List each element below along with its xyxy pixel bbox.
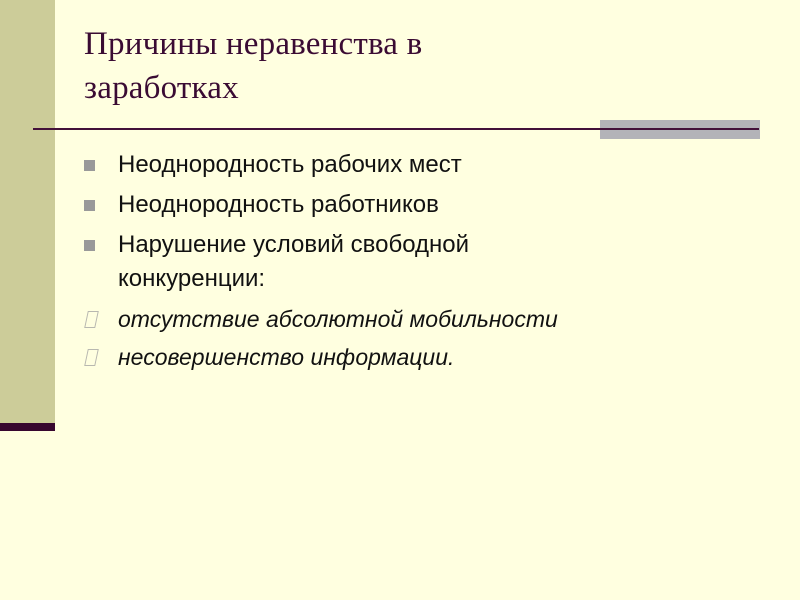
list-item-label: Неоднородность работников bbox=[118, 188, 744, 222]
list-item-label-line-1: Нарушение условий свободной bbox=[118, 228, 744, 262]
square-bullet-icon bbox=[84, 188, 118, 222]
page-title: Причины неравенства в заработках bbox=[84, 22, 724, 110]
list-item: Неоднородность рабочих мест bbox=[84, 148, 744, 182]
list-item-label-line-2: конкуренции: bbox=[118, 262, 744, 296]
list-item-label: Нарушение условий свободной конкуренции: bbox=[118, 228, 744, 296]
list-item-label: отсутствие абсолютной мобильности bbox=[118, 302, 744, 336]
square-bullet-icon bbox=[84, 148, 118, 182]
list-item-label: Неоднородность рабочих мест bbox=[118, 148, 744, 182]
list-item-label: несовершенство информации. bbox=[118, 340, 744, 374]
bullet-list: Неоднородность рабочих мест Неоднороднос… bbox=[84, 148, 744, 378]
page-title-line-1: Причины неравенства в bbox=[84, 22, 724, 66]
page-title-line-2: заработках bbox=[84, 66, 724, 110]
list-item: Неоднородность работников bbox=[84, 188, 744, 222]
title-rule-line bbox=[33, 128, 759, 130]
list-item: отсутствие абсолютной мобильности bbox=[84, 302, 744, 336]
decorative-side-band-foot bbox=[0, 423, 55, 431]
square-bullet-icon bbox=[84, 228, 118, 262]
list-item: несовершенство информации. bbox=[84, 340, 744, 374]
tofu-bullet-icon bbox=[84, 340, 118, 374]
tofu-bullet-icon bbox=[84, 302, 118, 336]
list-item: Нарушение условий свободной конкуренции: bbox=[84, 228, 744, 296]
slide-canvas: Причины неравенства в заработках Неоднор… bbox=[0, 0, 800, 600]
decorative-side-band bbox=[0, 0, 55, 423]
